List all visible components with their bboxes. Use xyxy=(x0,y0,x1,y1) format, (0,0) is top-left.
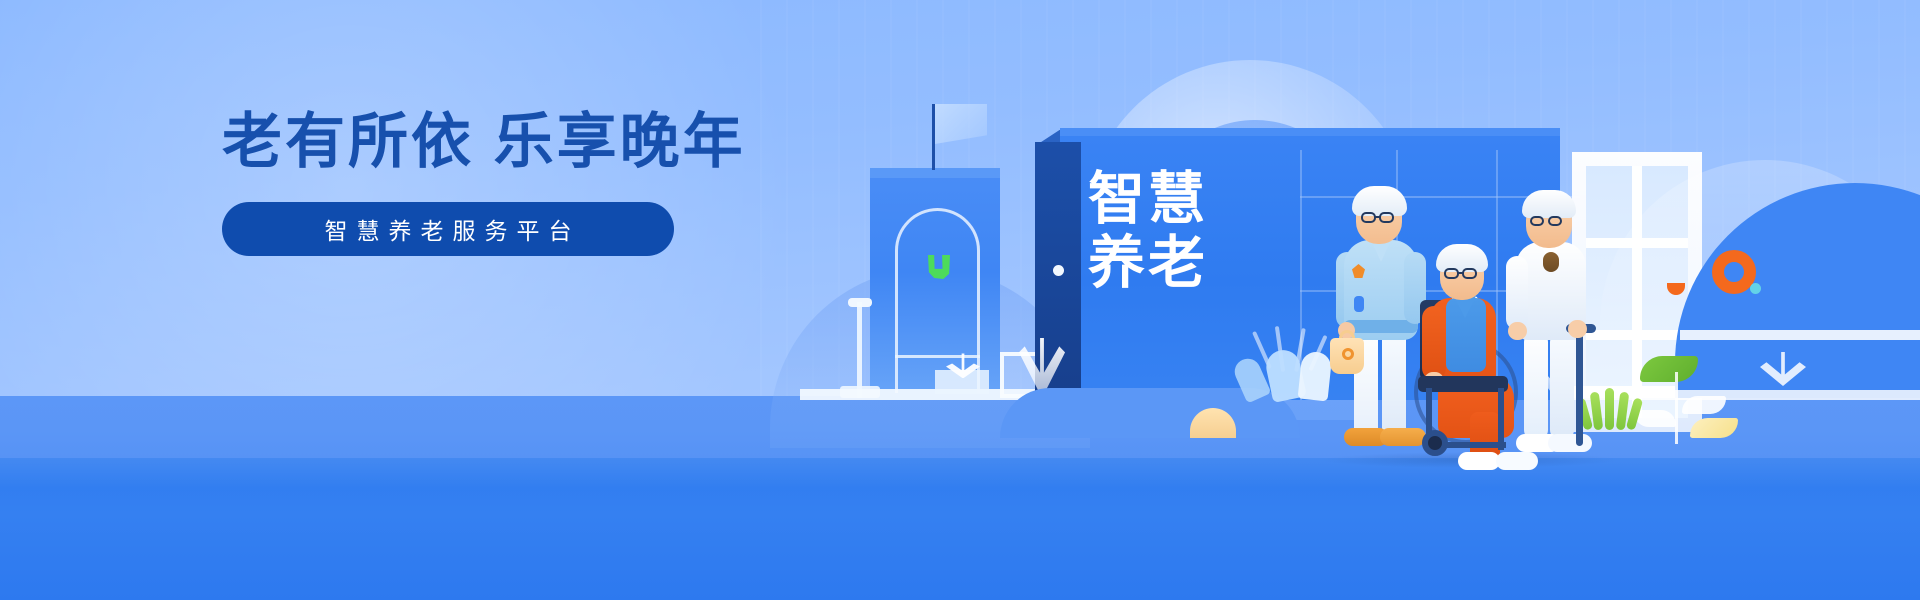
person-right-shoe-2 xyxy=(1548,434,1592,452)
person-left-glasses-lens-2 xyxy=(1379,212,1394,223)
person-left-glasses-bridge xyxy=(1375,216,1380,218)
wheelchair-wheel-small xyxy=(1422,430,1448,456)
person-right-hand-2 xyxy=(1568,320,1587,338)
person-left-hair xyxy=(1352,186,1407,216)
door-knob-icon xyxy=(1053,265,1064,276)
card-title: 智慧 养老 xyxy=(1088,168,1288,296)
archway-base-line xyxy=(895,355,980,358)
shelf-line-upper xyxy=(1680,330,1920,340)
person-right-glasses-lens-2 xyxy=(1548,216,1562,226)
hero-banner: 智慧 养老 xyxy=(0,0,1920,600)
archway-outline xyxy=(895,208,980,393)
plant-stem xyxy=(1675,372,1678,444)
person-left-shoe-2 xyxy=(1380,428,1426,446)
street-lamp-head xyxy=(848,298,872,307)
walking-cane-icon xyxy=(1576,328,1583,446)
flag-pole xyxy=(932,104,935,170)
street-lamp-icon xyxy=(857,302,862,398)
person-wheelchair-shoe-1 xyxy=(1458,452,1500,470)
person-wheelchair-glasses-lens-2 xyxy=(1462,268,1477,279)
person-right-glasses-lens-1 xyxy=(1530,216,1544,226)
person-wheelchair-shoe-2 xyxy=(1496,452,1538,470)
person-right-hand xyxy=(1508,322,1527,340)
wheelchair-frame-2 xyxy=(1498,388,1504,450)
card-title-line-1: 智慧 xyxy=(1088,168,1288,232)
plant-leaf-white-2 xyxy=(1634,410,1676,427)
person-wheelchair-arm xyxy=(1422,306,1446,380)
person-right-arm xyxy=(1506,256,1528,330)
building-roof xyxy=(870,168,1000,178)
person-left-pocket xyxy=(1354,296,1364,312)
card-title-line-2: 养老 xyxy=(1088,232,1288,296)
bush-leaf-2 xyxy=(1298,351,1333,402)
person-right-hair xyxy=(1522,190,1576,218)
person-left-hem xyxy=(1344,320,1418,333)
person-right-tie xyxy=(1543,252,1559,272)
elderly-people-illustration xyxy=(1330,180,1610,470)
person-right-leg-2 xyxy=(1550,332,1574,440)
floor-sheen xyxy=(0,458,1920,488)
subtitle-pill: 智慧养老服务平台 xyxy=(222,202,674,256)
shopping-bag-emblem xyxy=(1342,348,1354,360)
person-right-leg-1 xyxy=(1524,332,1548,440)
person-left-leg-2 xyxy=(1382,330,1406,434)
person-wheelchair-hair xyxy=(1436,244,1488,272)
cyan-dot-icon xyxy=(1750,283,1761,294)
person-left-glasses-lens-1 xyxy=(1361,212,1376,223)
person-wheelchair-glasses-lens-1 xyxy=(1444,268,1459,279)
page-title: 老有所依 乐享晚年 xyxy=(222,110,862,174)
person-wheelchair-glasses-bridge xyxy=(1458,272,1463,274)
subtitle-pill-label: 智慧养老服务平台 xyxy=(316,212,581,246)
